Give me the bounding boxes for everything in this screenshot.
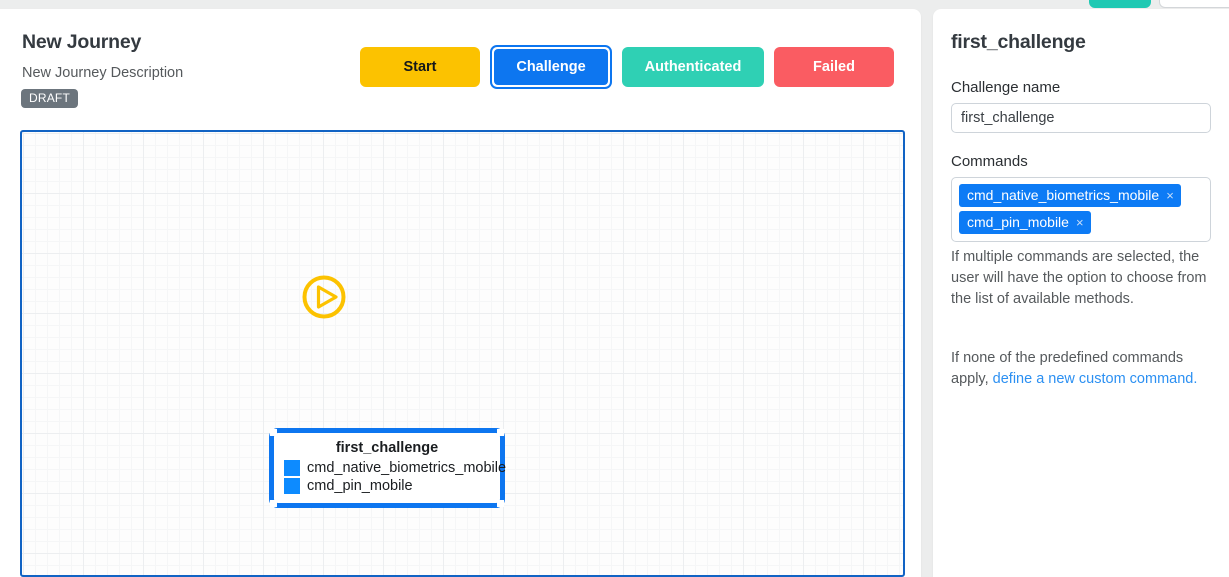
state-pill-wrap-challenge: Challenge (490, 45, 612, 89)
resize-handle-top-right[interactable] (497, 429, 504, 436)
commands-help-text: If multiple commands are selected, the u… (951, 247, 1211, 310)
resize-handle-top-left[interactable] (270, 429, 277, 436)
challenge-name-input[interactable] (951, 103, 1211, 133)
flow-node-title: first_challenge (284, 440, 490, 456)
command-chip-label: cmd_pin_mobile (967, 214, 1069, 230)
state-pill-failed[interactable]: Failed (774, 47, 894, 87)
flow-node-command-label: cmd_pin_mobile (307, 478, 413, 494)
command-chip-native-biometrics-mobile[interactable]: cmd_native_biometrics_mobile × (959, 184, 1181, 207)
command-swatch-icon (284, 460, 300, 476)
status-badge: DRAFT (21, 89, 78, 108)
state-pill-wrap-start: Start (360, 47, 480, 87)
custom-command-help: If none of the predefined commands apply… (951, 348, 1211, 390)
resize-handle-bottom-right[interactable] (497, 500, 504, 507)
resize-handle-bottom-left[interactable] (270, 500, 277, 507)
properties-panel: first_challenge Challenge name Commands … (933, 9, 1229, 577)
commands-multiselect[interactable]: cmd_native_biometrics_mobile × cmd_pin_m… (951, 177, 1211, 242)
state-pill-wrap-failed: Failed (774, 47, 894, 87)
play-circle-icon (301, 274, 347, 320)
commands-label: Commands (951, 153, 1211, 170)
flow-node-first-challenge[interactable]: first_challenge cmd_native_biometrics_mo… (269, 428, 505, 508)
state-pill-group: Start Challenge Authenticated Failed (360, 45, 894, 89)
remove-chip-icon[interactable]: × (1166, 189, 1174, 202)
command-swatch-icon (284, 478, 300, 494)
app-root: New Journey New Journey Description DRAF… (0, 0, 1229, 577)
state-pill-start[interactable]: Start (360, 47, 480, 87)
state-pill-wrap-authenticated: Authenticated (622, 47, 764, 87)
flow-node-command-label: cmd_native_biometrics_mobile (307, 460, 506, 476)
remove-chip-icon[interactable]: × (1076, 216, 1084, 229)
command-chip-pin-mobile[interactable]: cmd_pin_mobile × (959, 211, 1091, 234)
start-node[interactable] (301, 274, 347, 320)
flow-canvas[interactable]: first_challenge cmd_native_biometrics_mo… (20, 130, 905, 577)
journey-description: New Journey Description (22, 65, 183, 81)
define-custom-command-link[interactable]: define a new custom command. (993, 371, 1198, 387)
state-pill-challenge[interactable]: Challenge (494, 49, 608, 85)
page-title: New Journey (22, 31, 141, 54)
command-chip-label: cmd_native_biometrics_mobile (967, 187, 1159, 203)
panel-title: first_challenge (951, 31, 1211, 54)
secondary-button[interactable] (1159, 0, 1229, 8)
flow-node-command-row: cmd_native_biometrics_mobile (284, 460, 490, 476)
journey-editor-card: New Journey New Journey Description DRAF… (0, 9, 921, 577)
challenge-name-label: Challenge name (951, 79, 1211, 96)
top-toolbar-strip (0, 0, 1229, 9)
flow-node-command-row: cmd_pin_mobile (284, 478, 490, 494)
publish-button[interactable] (1089, 0, 1151, 8)
state-pill-authenticated[interactable]: Authenticated (622, 47, 764, 87)
